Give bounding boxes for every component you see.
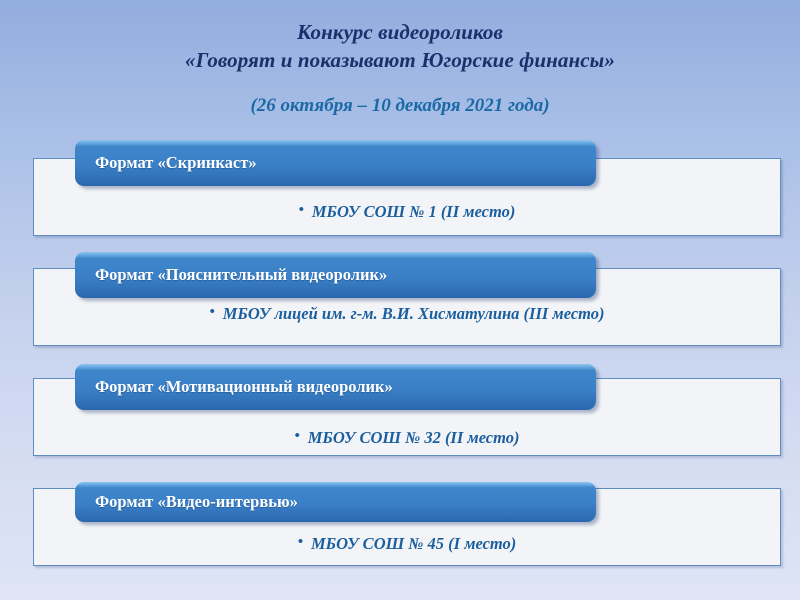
card-header-label: Формат «Пояснительный видеоролик» (75, 265, 387, 285)
bullet-dot-icon: • (209, 305, 214, 320)
category-card-list: • МБОУ СОШ № 1 (II место) Формат «Скринк… (0, 140, 800, 580)
card-header-label: Формат «Мотивационный видеоролик» (75, 377, 393, 397)
page-title-line-2: «Говорят и показывают Югорские финансы» (0, 46, 800, 74)
card-header-label: Формат «Скринкаст» (75, 153, 257, 173)
category-card: • МБОУ СОШ № 45 (I место) Формат «Видео-… (0, 470, 800, 568)
winner-label: МБОУ СОШ № 45 (I место) (311, 534, 516, 554)
page-title-line-1: Конкурс видеороликов (0, 18, 800, 46)
page-title: Конкурс видеороликов «Говорят и показыва… (0, 0, 800, 75)
page-subtitle-dates: (26 октября – 10 декабря 2021 года) (0, 75, 800, 117)
list-item: • МБОУ СОШ № 45 (I место) (298, 534, 517, 554)
card-header-pill[interactable]: Формат «Мотивационный видеоролик» (75, 364, 596, 410)
winner-label: МБОУ СОШ № 1 (II место) (312, 202, 516, 222)
list-item: • МБОУ лицей им. г-м. В.И. Хисматулина (… (209, 304, 604, 324)
bullet-dot-icon: • (294, 429, 299, 444)
slide-header: Конкурс видеороликов «Говорят и показыва… (0, 0, 800, 117)
card-header-pill[interactable]: Формат «Видео-интервью» (75, 482, 596, 522)
category-card: • МБОУ лицей им. г-м. В.И. Хисматулина (… (0, 250, 800, 348)
winner-label: МБОУ лицей им. г-м. В.И. Хисматулина (II… (223, 304, 605, 324)
bullet-dot-icon: • (298, 535, 303, 550)
category-card: • МБОУ СОШ № 1 (II место) Формат «Скринк… (0, 140, 800, 238)
card-header-label: Формат «Видео-интервью» (75, 492, 298, 512)
card-header-pill[interactable]: Формат «Пояснительный видеоролик» (75, 252, 596, 298)
category-card: • МБОУ СОШ № 32 (II место) Формат «Мотив… (0, 360, 800, 458)
winner-label: МБОУ СОШ № 32 (II место) (308, 428, 520, 448)
list-item: • МБОУ СОШ № 32 (II место) (294, 428, 519, 448)
list-item: • МБОУ СОШ № 1 (II место) (299, 202, 516, 222)
card-header-pill[interactable]: Формат «Скринкаст» (75, 140, 596, 186)
bullet-dot-icon: • (299, 203, 304, 218)
